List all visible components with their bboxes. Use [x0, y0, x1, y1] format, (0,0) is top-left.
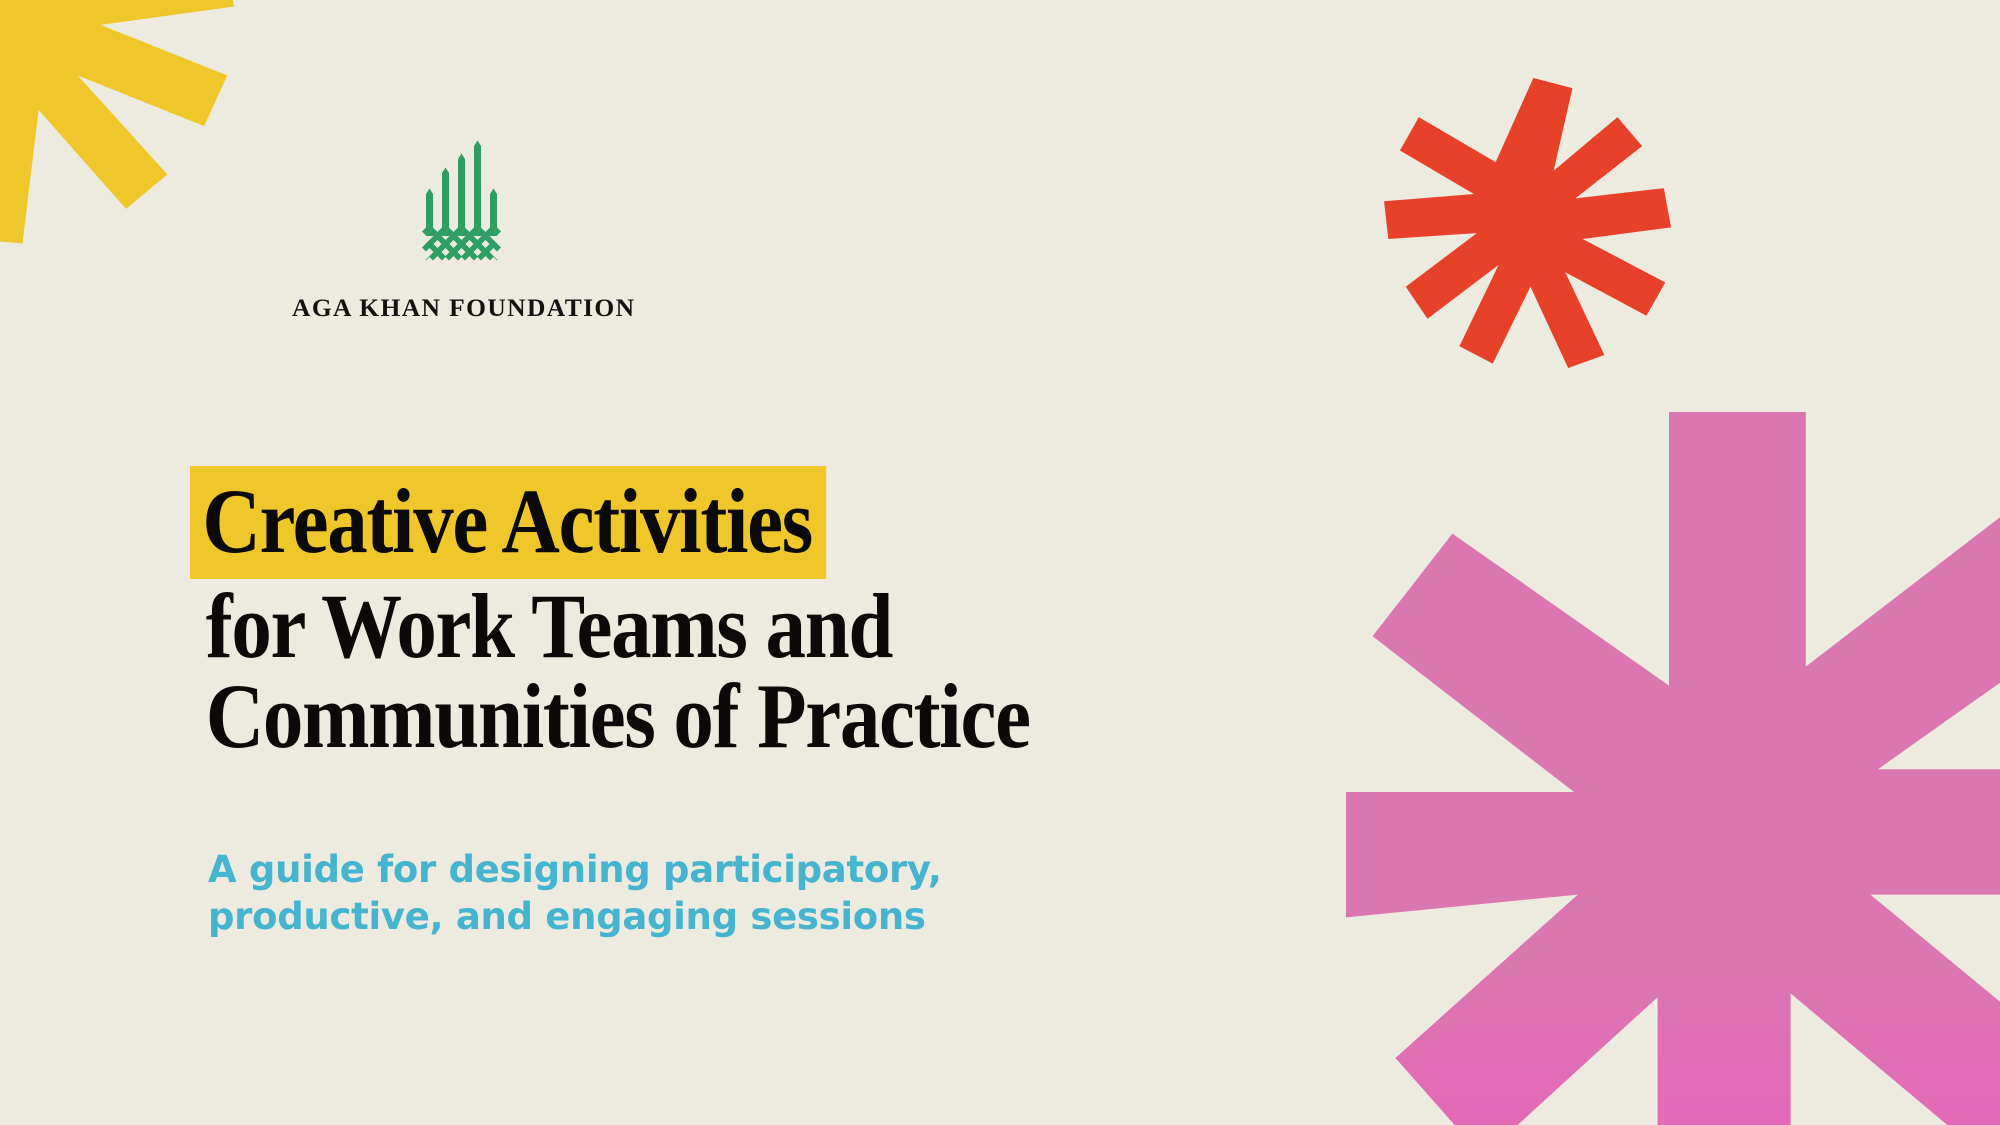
page-title: Creative Activities for Work Teams and C…	[204, 466, 1324, 760]
pink-asterisk-icon	[1346, 392, 2000, 1125]
subtitle-line-2: productive, and engaging sessions	[208, 893, 1108, 940]
aga-khan-foundation-logo-icon	[421, 140, 503, 275]
organization-wordmark: AGA KHAN FOUNDATION	[292, 293, 632, 323]
page-subtitle: A guide for designing participatory, pro…	[208, 846, 1108, 941]
cover-page: AGA KHAN FOUNDATION Creative Activities …	[0, 0, 2000, 1125]
headline-line-1: Creative Activities	[190, 466, 826, 579]
subtitle-line-1: A guide for designing participatory,	[208, 846, 1108, 893]
headline-line-3: Communities of Practice	[204, 673, 1190, 760]
logo-block: AGA KHAN FOUNDATION	[292, 140, 632, 323]
yellow-asterisk-icon	[0, 0, 264, 248]
headline-line-2: for Work Teams and	[204, 583, 1190, 670]
red-asterisk-icon	[1376, 78, 1682, 368]
